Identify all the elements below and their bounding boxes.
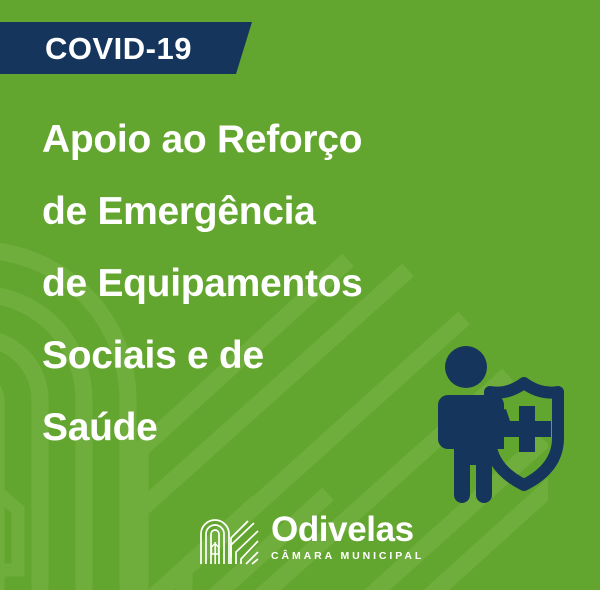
headline-line-3: de Equipamentos (42, 248, 462, 320)
odivelas-heart-icon (198, 508, 260, 566)
covid-banner: COVID-19 (0, 22, 252, 74)
person-with-shield-icon (428, 345, 573, 505)
headline-line-5: Saúde (42, 392, 462, 464)
headline-line-2: de Emergência (42, 176, 462, 248)
headline-line-4: Sociais e de (42, 320, 462, 392)
headline-line-1: Apoio ao Reforço (42, 104, 462, 176)
covid-19-support-poster: COVID-19 Apoio ao Reforço de Emergência … (0, 0, 600, 590)
logo-text-block: Odivelas CÂMARA MUNICIPAL (271, 512, 424, 563)
logo-subtitle: CÂMARA MUNICIPAL (271, 549, 424, 563)
odivelas-logo: Odivelas CÂMARA MUNICIPAL (198, 506, 424, 568)
page-title: Apoio ao Reforço de Emergência de Equipa… (42, 104, 462, 464)
logo-wordmark: Odivelas (271, 512, 424, 548)
medical-cross-icon (503, 406, 551, 452)
covid-banner-label: COVID-19 (0, 33, 192, 64)
